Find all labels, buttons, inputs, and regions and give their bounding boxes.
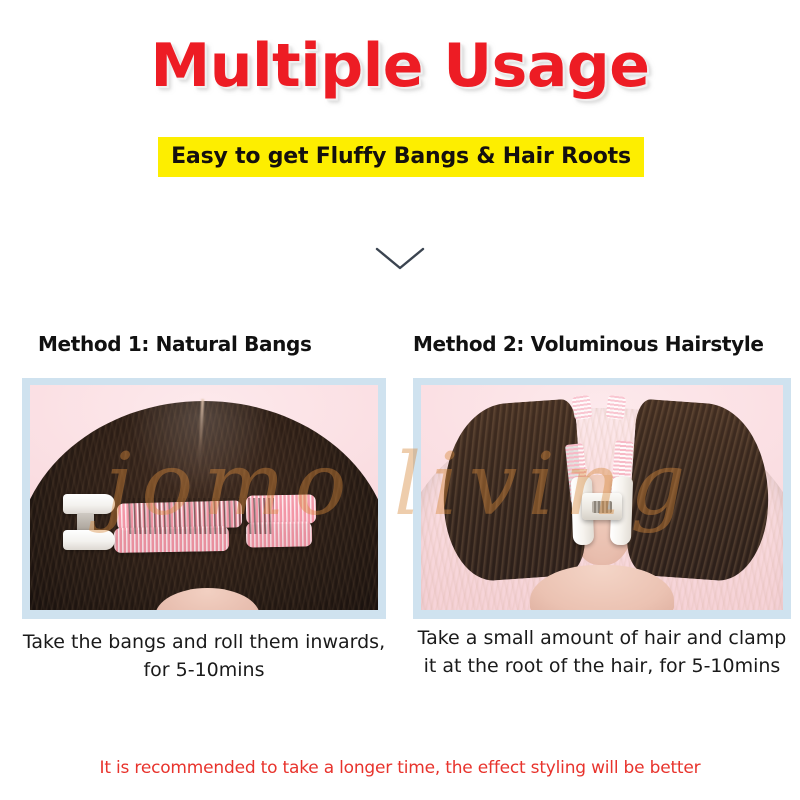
method-1-photo-frame bbox=[22, 378, 386, 619]
clip-jaw-bottom bbox=[63, 530, 115, 550]
highlight-banner: Easy to get Fluffy Bangs & Hair Roots bbox=[158, 137, 644, 177]
comb-tuft-left bbox=[572, 395, 593, 420]
method-2-caption: Take a small amount of hair and clamp it… bbox=[413, 624, 791, 680]
page-title: Multiple Usage bbox=[0, 31, 800, 101]
clip-jaw-top bbox=[63, 494, 115, 514]
method-1-caption: Take the bangs and roll them inwards, fo… bbox=[22, 628, 386, 684]
recommendation-note: It is recommended to take a longer time,… bbox=[0, 757, 800, 779]
method-1-photo bbox=[30, 385, 378, 610]
clip-spring bbox=[592, 501, 612, 513]
divider bbox=[0, 243, 800, 273]
method-column-2: Method 2: Voluminous Hairstyle bbox=[413, 332, 791, 619]
method-2-photo bbox=[421, 385, 783, 610]
banner-text: Easy to get Fluffy Bangs & Hair Roots bbox=[171, 144, 631, 170]
hair-over-roller bbox=[127, 498, 273, 534]
method-2-heading: Method 2: Voluminous Hairstyle bbox=[413, 332, 791, 356]
method-column-1: Method 1: Natural Bangs bbox=[22, 332, 386, 619]
method-1-heading: Method 1: Natural Bangs bbox=[38, 332, 386, 356]
promo-page: Multiple Usage Easy to get Fluffy Bangs … bbox=[0, 0, 800, 800]
chevron-down-icon bbox=[373, 243, 427, 273]
clip-hinge bbox=[77, 513, 95, 532]
comb-tuft-right bbox=[606, 395, 627, 420]
method-2-photo-frame bbox=[413, 378, 791, 619]
root-volume-clip bbox=[571, 477, 633, 545]
hair-clip bbox=[63, 493, 115, 552]
